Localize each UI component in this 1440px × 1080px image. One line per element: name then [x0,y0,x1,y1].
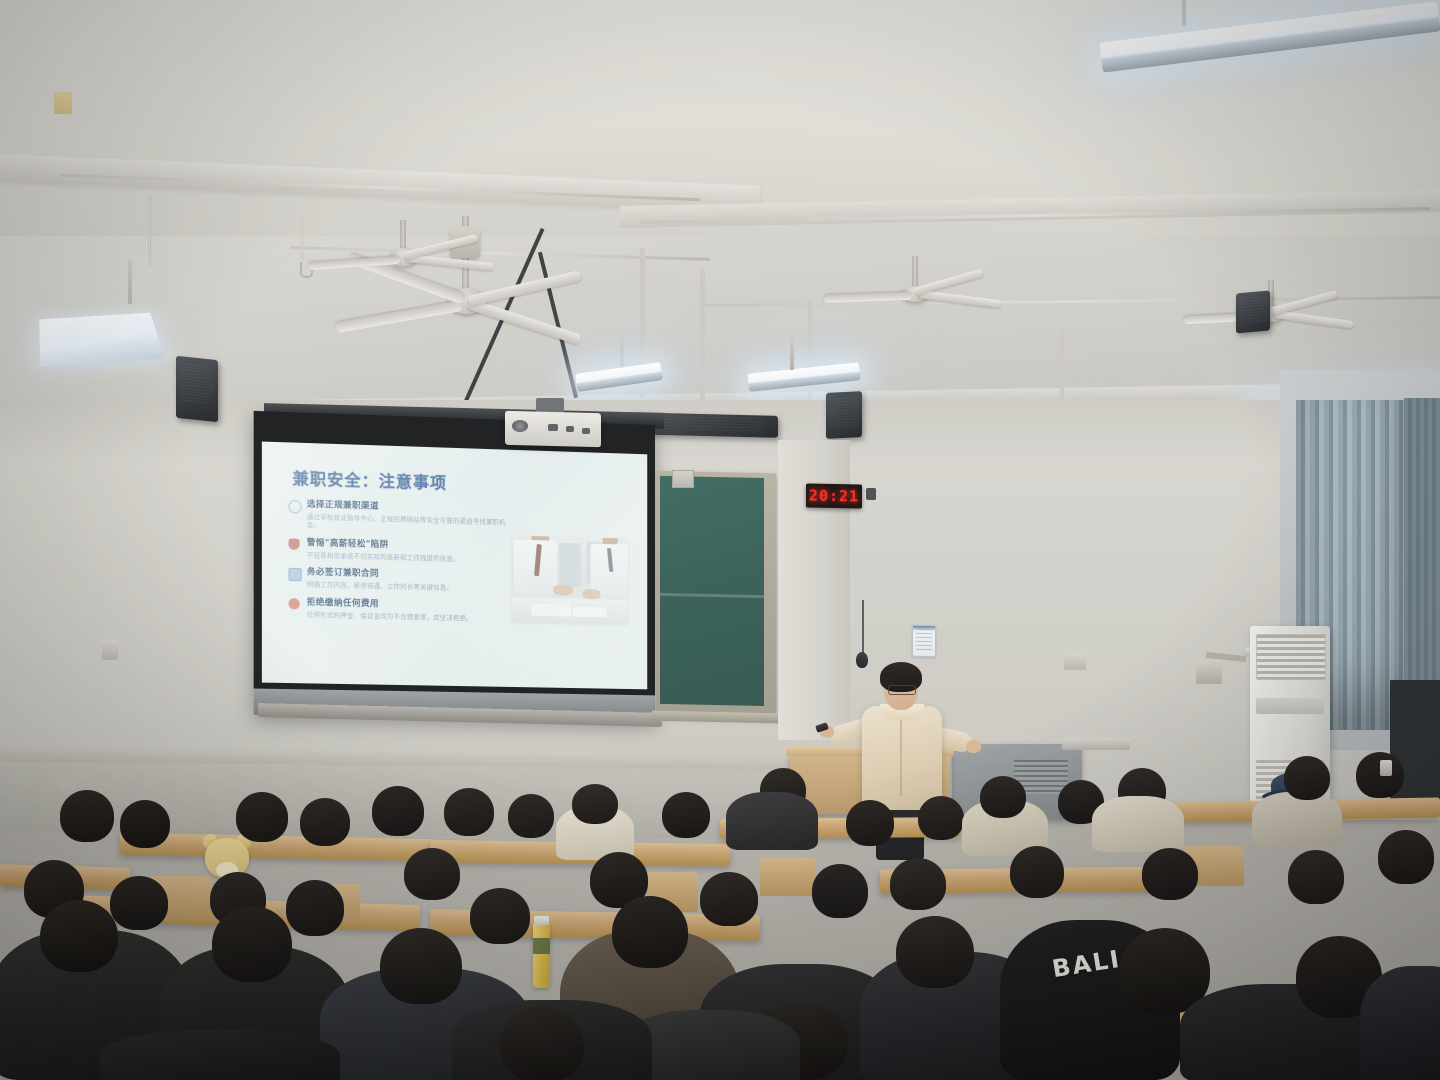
lecture-hall-photo: 兼职安全：注意事项 选择正规兼职渠道 通过学校就业指导中心、正规招聘网站等安全可… [0,0,1440,1080]
student-head [404,848,460,900]
hanging-microphone [856,652,868,668]
slide-bullet-item: 警惕"高薪轻松"陷阱 不轻易相信承诺不切实际的高薪和工作强度的信息。 [288,537,505,564]
wall-vent [672,470,694,488]
student-head [612,896,688,968]
student-head [890,858,946,910]
bottle-label [533,938,550,954]
ceiling-panel-light [39,313,165,367]
student-head [662,792,710,838]
document-icon [288,568,301,581]
ac-label [54,92,72,114]
projector-control[interactable] [582,428,590,434]
desk-row [120,833,440,862]
wall-outlet-box[interactable] [1196,660,1222,684]
slide-title: 兼职安全：注意事项 [293,465,448,494]
student-head [212,906,292,982]
ceiling-support [808,300,812,410]
wall-switch[interactable] [102,640,118,660]
student-head [1284,756,1330,800]
student-head [700,872,758,926]
clock-time: 20:21 [809,487,859,506]
student-head [918,796,964,840]
slide-bullet-list: 选择正规兼职渠道 通过学校就业指导中心、正规招聘网站等安全可靠的渠道寻找兼职机会… [288,499,505,631]
ban-icon [288,598,299,609]
id-lanyard [1380,760,1392,776]
projector-lens [512,420,528,432]
photo-hand [583,589,601,599]
presenter-jacket [862,706,942,810]
eyeglasses [888,685,916,695]
wall-speaker [1236,291,1270,334]
student-torso [1252,792,1342,846]
student-head [60,790,114,842]
chair-back [760,858,816,896]
ceiling-conduit [148,196,151,266]
photo-document [531,604,570,617]
presentation-slide: 兼职安全：注意事项 选择正规兼职渠道 通过学校就业指导中心、正规招聘网站等安全可… [262,442,647,690]
student-head [572,784,618,824]
student-head [300,798,350,846]
fan-rod [912,256,918,290]
student-torso [1092,796,1184,852]
student-head [896,916,974,988]
wall-notice-sign [912,625,936,657]
student-torso [726,792,818,850]
light-stem [790,336,794,370]
student-head [120,800,170,848]
student-head [1142,848,1198,900]
microphone-cable [862,600,864,656]
student-head [236,792,288,842]
photo-window [559,543,581,587]
ac-intake-grille [1256,634,1326,680]
slide-bullet-item: 选择正规兼职渠道 通过学校就业指导中心、正规招聘网站等安全可靠的渠道寻找兼职机会… [288,499,505,535]
light-stem [620,336,624,370]
projector-control[interactable] [548,424,558,431]
wall-outlet[interactable] [58,774,76,790]
led-wall-clock: 20:21 [806,484,862,509]
student-head [1010,846,1064,898]
student-head [372,786,424,836]
student-head [846,800,894,846]
student-head [812,864,868,918]
bullet-body: 任何形式的押金、保证金均为不合理要求，应坚决拒绝。 [307,610,506,623]
light-stem [128,260,132,304]
wall-speaker [176,356,218,422]
bottle-cap[interactable] [534,916,549,925]
student-head [40,900,118,972]
student-head [444,788,494,836]
student-head [470,888,530,944]
jacket-seam [900,720,902,796]
clock-sensor [866,488,876,500]
cabinet-top-surface [1062,738,1130,750]
slide-bullet-item: 拒绝缴纳任何费用 任何形式的押金、保证金均为不合理要求，应坚决拒绝。 [288,597,505,623]
student-head [380,928,462,1004]
student-head [980,776,1026,818]
contract-signing-photo [512,536,628,624]
bullet-body: 通过学校就业指导中心、正规招聘网站等安全可靠的渠道寻找兼职机会。 [307,513,506,535]
student-head [286,880,344,936]
light-stem [1182,0,1186,26]
ceiling-conduit [300,218,303,260]
beverage-bottle[interactable] [533,922,550,988]
slide-bullet-item: 务必签订兼职合同 明确工作内容、薪资待遇、工作时长等关键信息。 [288,567,505,594]
student-head [508,794,554,838]
student-torso [1360,966,1440,1080]
student-head [500,1006,584,1080]
photo-hand [553,584,573,595]
projector-control[interactable] [566,426,574,432]
ac-control-panel[interactable] [1256,698,1324,714]
student-head [1288,850,1344,904]
shield-icon [288,538,299,549]
student-head [1378,830,1434,884]
photo-document [573,607,606,618]
student-head [110,876,168,930]
projection-screen: 兼职安全：注意事项 选择正规兼职渠道 通过学校就业指导中心、正规招聘网站等安全可… [254,411,655,721]
ceiling-support [700,270,705,400]
presenter-right-hand [966,740,981,753]
clock-icon [288,500,301,514]
student-torso [100,1030,340,1080]
window-curtain [1404,398,1440,698]
wall-speaker [826,391,862,439]
wall-outlet-box[interactable] [1064,652,1086,670]
blackboard-surface [660,476,764,706]
